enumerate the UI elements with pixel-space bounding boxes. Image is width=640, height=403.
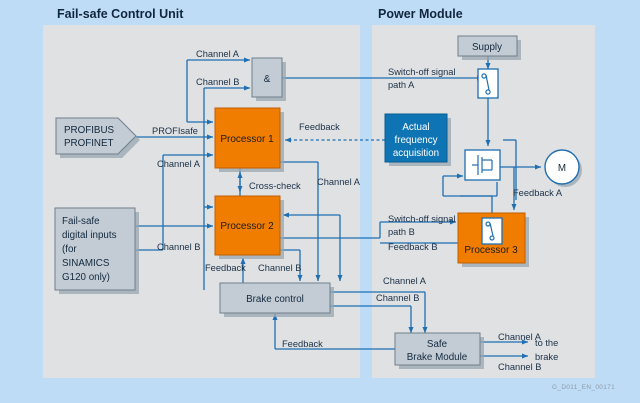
label-switch-off-a-2: path A [388, 80, 415, 90]
panel-title-power-module: Power Module [378, 7, 463, 21]
motor-label: M [558, 163, 566, 174]
label-to-the-brake-2: brake [535, 352, 558, 362]
supply-label: Supply [472, 42, 502, 53]
watermark: G_D011_EN_00171 [552, 384, 615, 391]
label-feedback-b: Feedback B [388, 242, 438, 252]
actual-freq-line2: frequency [394, 135, 437, 146]
fsdi-line3: (for [62, 244, 77, 255]
label-channel-a-4: Channel A [383, 276, 427, 286]
label-feedback-bc: Feedback [205, 263, 246, 273]
fsdi-line1: Fail-safe [62, 216, 100, 227]
label-channel-b-out: Channel B [498, 362, 541, 372]
actual-freq-line3: acquisition [393, 148, 439, 159]
fsdi-line2: digital inputs [62, 230, 117, 241]
block-diagram: Fail-safe Control Unit Power Module [0, 0, 640, 403]
label-switch-off-a-1: Switch-off signal [388, 67, 456, 77]
label-channel-b-4: Channel B [376, 293, 419, 303]
panel-title-control-unit: Fail-safe Control Unit [57, 7, 184, 21]
fsdi-line5: G120 only) [62, 272, 110, 283]
label-channel-b-2: Channel B [157, 242, 200, 252]
label-channel-b-1: Channel B [196, 77, 239, 87]
brake-control-label: Brake control [246, 294, 304, 305]
label-channel-a-2: Channel A [157, 159, 201, 169]
label-to-the-brake-1: to the [535, 338, 558, 348]
sbm-line1: Safe [427, 339, 448, 350]
label-feedback-a: Feedback A [513, 188, 563, 198]
and-gate-label: & [264, 74, 271, 85]
profibus-label-line1: PROFIBUS [64, 125, 115, 136]
label-channel-a-1: Channel A [196, 49, 240, 59]
diagram-canvas: Fail-safe Control Unit Power Module [0, 0, 640, 403]
label-switch-off-b-1: Switch-off signal [388, 214, 456, 224]
processor1-label: Processor 1 [220, 134, 274, 145]
sbm-line2: Brake Module [407, 352, 468, 363]
label-cross-check: Cross-check [249, 181, 301, 191]
processor2-label: Processor 2 [220, 221, 274, 232]
label-channel-a-3: Channel A [317, 177, 361, 187]
label-channel-b-3: Channel B [258, 263, 301, 273]
actual-freq-line1: Actual [402, 122, 429, 133]
fsdi-line4: SINAMICS [62, 258, 110, 269]
label-feedback-p1: Feedback [299, 122, 340, 132]
label-profisafe: PROFIsafe [152, 126, 198, 136]
label-feedback-bottom: Feedback [282, 339, 323, 349]
processor3-label: Processor 3 [464, 245, 518, 256]
label-switch-off-b-2: path B [388, 227, 415, 237]
profibus-label-line2: PROFINET [64, 138, 114, 149]
